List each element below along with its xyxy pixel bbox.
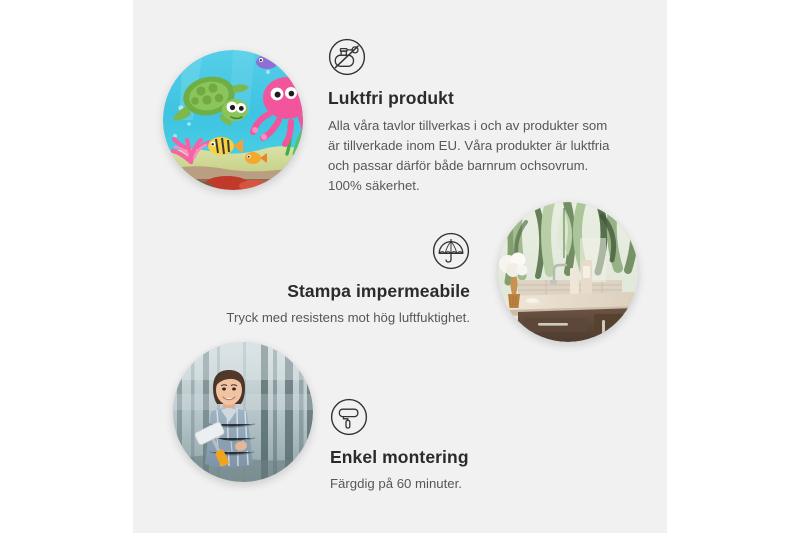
feature-body: Tryck med resistens mot hög luftfuktighe… (178, 308, 470, 328)
feature-title: Enkel montering (330, 447, 469, 469)
no-perfume-icon (328, 38, 366, 76)
paint-roller-icon (330, 398, 368, 436)
photo-woman-paint-roller-forest (173, 342, 313, 482)
umbrella-icon (432, 232, 470, 270)
feature-easy-mounting: Enkel montering Färgdig på 60 minuter. (330, 398, 469, 494)
photo-bathroom-tropical-wallpaper-inner (498, 202, 638, 342)
feature-odourless: Luktfri produkt Alla våra tavlor tillver… (328, 38, 620, 196)
underwater-scene-illustration (163, 50, 303, 190)
photo-bathroom-tropical-wallpaper (498, 202, 638, 342)
bathroom-interior-photo (498, 202, 638, 342)
feature-body: Alla våra tavlor tillverkas i och av pro… (328, 116, 620, 196)
photo-underwater-kids-mural (163, 50, 303, 190)
photo-underwater-kids-mural-inner (163, 50, 303, 190)
feature-waterproof-print: Stampa impermeabile Tryck med resistens … (178, 232, 470, 328)
feature-title: Luktfri produkt (328, 88, 620, 110)
photo-woman-paint-roller-forest-inner (173, 342, 313, 482)
woman-with-roller-photo (173, 342, 313, 482)
feature-body: Färgdig på 60 minuter. (330, 474, 469, 494)
promo-banner: Luktfri produkt Alla våra tavlor tillver… (0, 0, 800, 533)
feature-title: Stampa impermeabile (178, 281, 470, 303)
